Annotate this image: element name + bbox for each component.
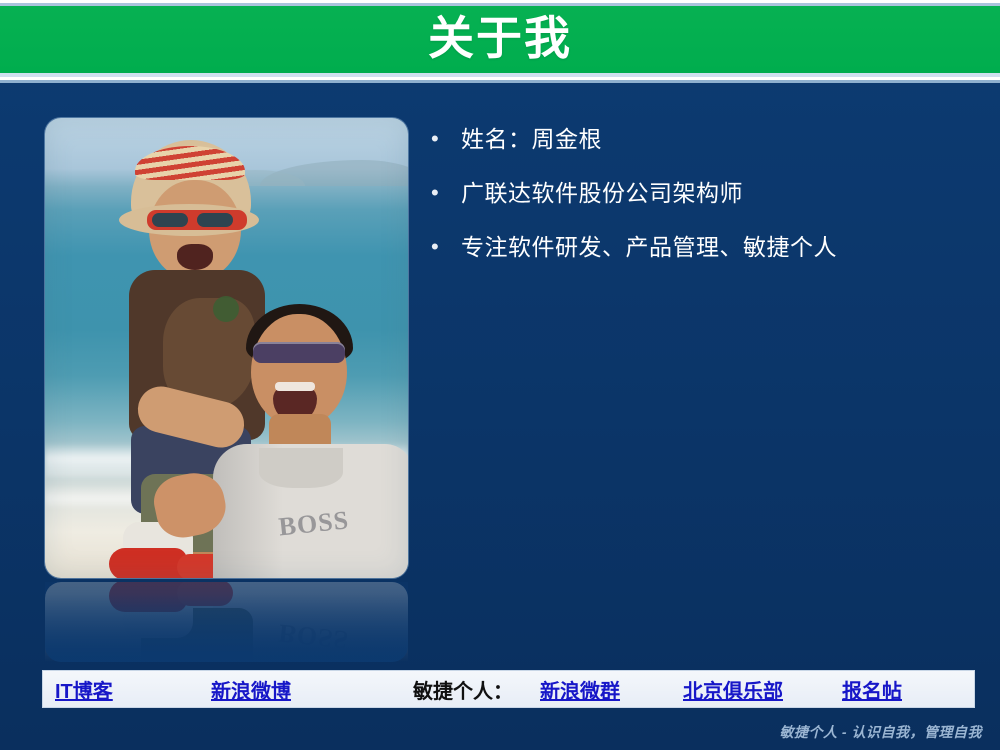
title-banner: 关于我	[0, 6, 1000, 73]
page-title: 关于我	[0, 10, 1000, 66]
banner-underline-blue	[0, 80, 1000, 83]
photo-child-mouth	[177, 244, 213, 270]
slide-canvas: 关于我	[0, 0, 1000, 750]
bullet-list: • 姓名：周金根 • 广联达软件股份公司架构师 • 专注软件研发、产品管理、敏捷…	[425, 122, 970, 284]
bullet-text: 广联达软件股份公司架构师	[461, 176, 970, 210]
bullet-text: 姓名：周金根	[461, 122, 970, 156]
photo-man-teeth	[275, 382, 315, 391]
bullet-text: 专注软件研发、产品管理、敏捷个人	[461, 230, 970, 264]
bullet-marker-icon: •	[425, 176, 461, 210]
photo-child-hat-band	[135, 146, 245, 180]
links-bar-label: 敏捷个人：	[413, 675, 513, 704]
photo-shirt-print: BOSS	[278, 505, 389, 578]
bullet-marker-icon: •	[425, 230, 461, 264]
link-sina-weibo[interactable]: 新浪微博	[211, 675, 291, 704]
photo-child-shoe-left	[109, 548, 187, 578]
photo-child-lens-right	[197, 213, 233, 227]
link-sina-group[interactable]: 新浪微群	[540, 675, 620, 704]
footer-tagline: 敏捷个人 - 认识自我，管理自我	[780, 722, 982, 742]
photo-man-sunglasses	[253, 342, 345, 363]
link-beijing-club[interactable]: 北京俱乐部	[683, 675, 783, 704]
bullet-item-role: • 广联达软件股份公司架构师	[425, 176, 970, 210]
photo-reflection-scene: BOSS	[45, 582, 408, 662]
photo-man-collar	[259, 448, 343, 488]
photo-child-lens-left	[152, 213, 188, 227]
link-it-blog[interactable]: IT博客	[55, 675, 113, 704]
bullet-item-focus: • 专注软件研发、产品管理、敏捷个人	[425, 230, 970, 264]
link-signup-post[interactable]: 报名帖	[842, 675, 902, 704]
profile-photo: BOSS	[45, 118, 408, 578]
photo-reflection-shoe-right	[177, 582, 233, 606]
bullet-item-name: • 姓名：周金根	[425, 122, 970, 156]
photo-reflection-print: BOSS	[278, 582, 389, 655]
photo-reflection-shoe-left	[109, 582, 187, 612]
links-bar: IT博客 新浪微博 敏捷个人： 新浪微群 北京俱乐部 报名帖	[42, 670, 975, 708]
bullet-marker-icon: •	[425, 122, 461, 156]
photo-child-shirt-badge	[213, 296, 239, 322]
photo-scene: BOSS	[45, 118, 408, 578]
photo-reflection: BOSS	[45, 582, 408, 662]
